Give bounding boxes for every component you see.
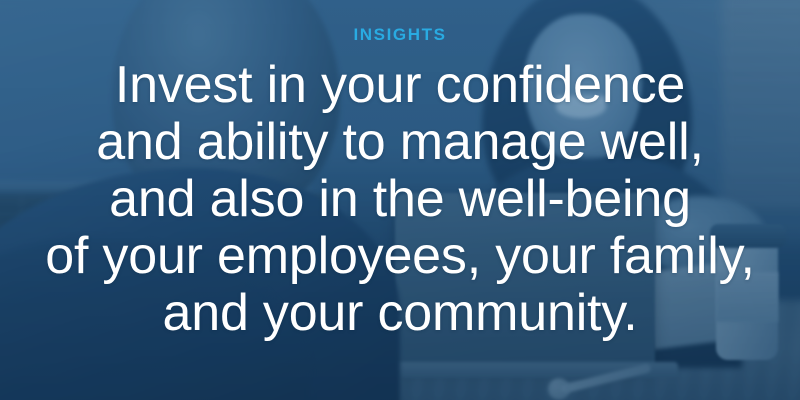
card-content: INSIGHTS Invest in your confidence and a… [0,0,800,400]
quote-line-3: and also in the well-being [0,171,800,228]
quote-line-2: and ability to manage well, [0,114,800,171]
quote-line-4: of your employees, your family, [0,228,800,285]
quote-line-1: Invest in your confidence [0,57,800,114]
quote-text: Invest in your confidence and ability to… [0,57,800,342]
insights-quote-card: INSIGHTS Invest in your confidence and a… [0,0,800,400]
quote-line-5: and your community. [0,285,800,342]
eyebrow-label: INSIGHTS [353,26,446,43]
